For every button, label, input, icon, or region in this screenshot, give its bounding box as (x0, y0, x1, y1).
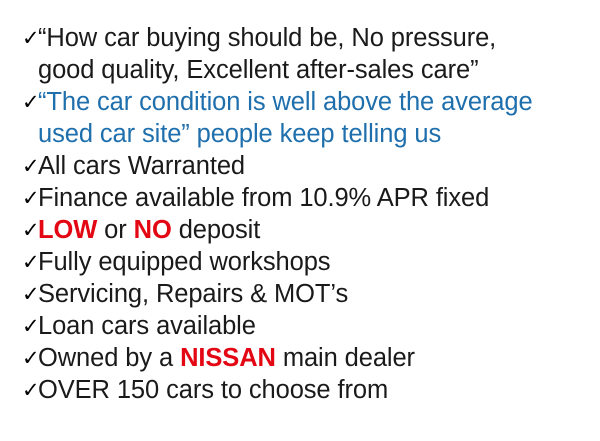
bullet-item: ✓Owned by a NISSAN main dealer (0, 342, 600, 374)
bullet-text: good quality, Excellent after-sales care… (38, 54, 600, 86)
text-segment: main dealer (276, 344, 415, 372)
bullet-text: Loan cars available (38, 310, 600, 342)
bullet-item: ✓All cars Warranted (0, 150, 600, 182)
text-segment: “The car condition is well above the ave… (38, 88, 533, 116)
checkmark-icon: ✓ (0, 246, 38, 278)
text-segment: OVER 150 cars to choose from (38, 376, 388, 404)
bullet-text: Finance available from 10.9% APR fixed (38, 182, 600, 214)
bullet-text: “How car buying should be, No pressure, (38, 22, 600, 54)
bullet-text: used car site” people keep telling us (38, 118, 600, 150)
checkmark-icon: ✓ (0, 310, 38, 342)
bullet-item: ✓“How car buying should be, No pressure, (0, 22, 600, 54)
checkmark-icon: ✓ (0, 374, 38, 406)
text-segment: deposit (172, 216, 261, 244)
bullet-item: ✓Loan cars available (0, 310, 600, 342)
text-segment: “How car buying should be, No pressure, (38, 24, 496, 52)
checkmark-icon: ✓ (0, 22, 38, 54)
bullet-indent-spacer: ✓ (0, 54, 38, 86)
bullet-item-continuation: ✓good quality, Excellent after-sales car… (0, 54, 600, 86)
bullet-item-continuation: ✓used car site” people keep telling us (0, 118, 600, 150)
bullet-item: ✓LOW or NO deposit (0, 214, 600, 246)
benefits-bullet-list: ✓“How car buying should be, No pressure,… (0, 22, 600, 406)
checkmark-icon: ✓ (0, 214, 38, 246)
bullet-text: LOW or NO deposit (38, 214, 600, 246)
checkmark-icon: ✓ (0, 150, 38, 182)
text-segment: Servicing, Repairs & MOT’s (38, 280, 348, 308)
text-segment: LOW (38, 216, 97, 244)
text-segment: Owned by a (38, 344, 180, 372)
bullet-item: ✓Servicing, Repairs & MOT’s (0, 278, 600, 310)
text-segment: Finance available from 10.9% APR fixed (38, 184, 489, 212)
bullet-text: “The car condition is well above the ave… (38, 86, 600, 118)
text-segment: NO (134, 216, 172, 244)
bullet-indent-spacer: ✓ (0, 118, 38, 150)
text-segment: good quality, Excellent after-sales care… (38, 56, 478, 84)
text-segment: used car site” people keep telling us (38, 120, 441, 148)
text-segment: NISSAN (180, 344, 276, 372)
bullet-item: ✓Fully equipped workshops (0, 246, 600, 278)
bullet-item: ✓OVER 150 cars to choose from (0, 374, 600, 406)
bullet-text: Servicing, Repairs & MOT’s (38, 278, 600, 310)
bullet-text: Owned by a NISSAN main dealer (38, 342, 600, 374)
text-segment: or (97, 216, 133, 244)
bullet-item: ✓“The car condition is well above the av… (0, 86, 600, 118)
checkmark-icon: ✓ (0, 342, 38, 374)
bullet-text: Fully equipped workshops (38, 246, 600, 278)
bullet-text: OVER 150 cars to choose from (38, 374, 600, 406)
checkmark-icon: ✓ (0, 278, 38, 310)
bullet-text: All cars Warranted (38, 150, 600, 182)
bullet-item: ✓Finance available from 10.9% APR fixed (0, 182, 600, 214)
text-segment: Loan cars available (38, 312, 256, 340)
checkmark-icon: ✓ (0, 182, 38, 214)
text-segment: Fully equipped workshops (38, 248, 330, 276)
text-segment: All cars Warranted (38, 152, 245, 180)
checkmark-icon: ✓ (0, 86, 38, 118)
promotional-bullet-slide: ✓“How car buying should be, No pressure,… (0, 0, 600, 441)
